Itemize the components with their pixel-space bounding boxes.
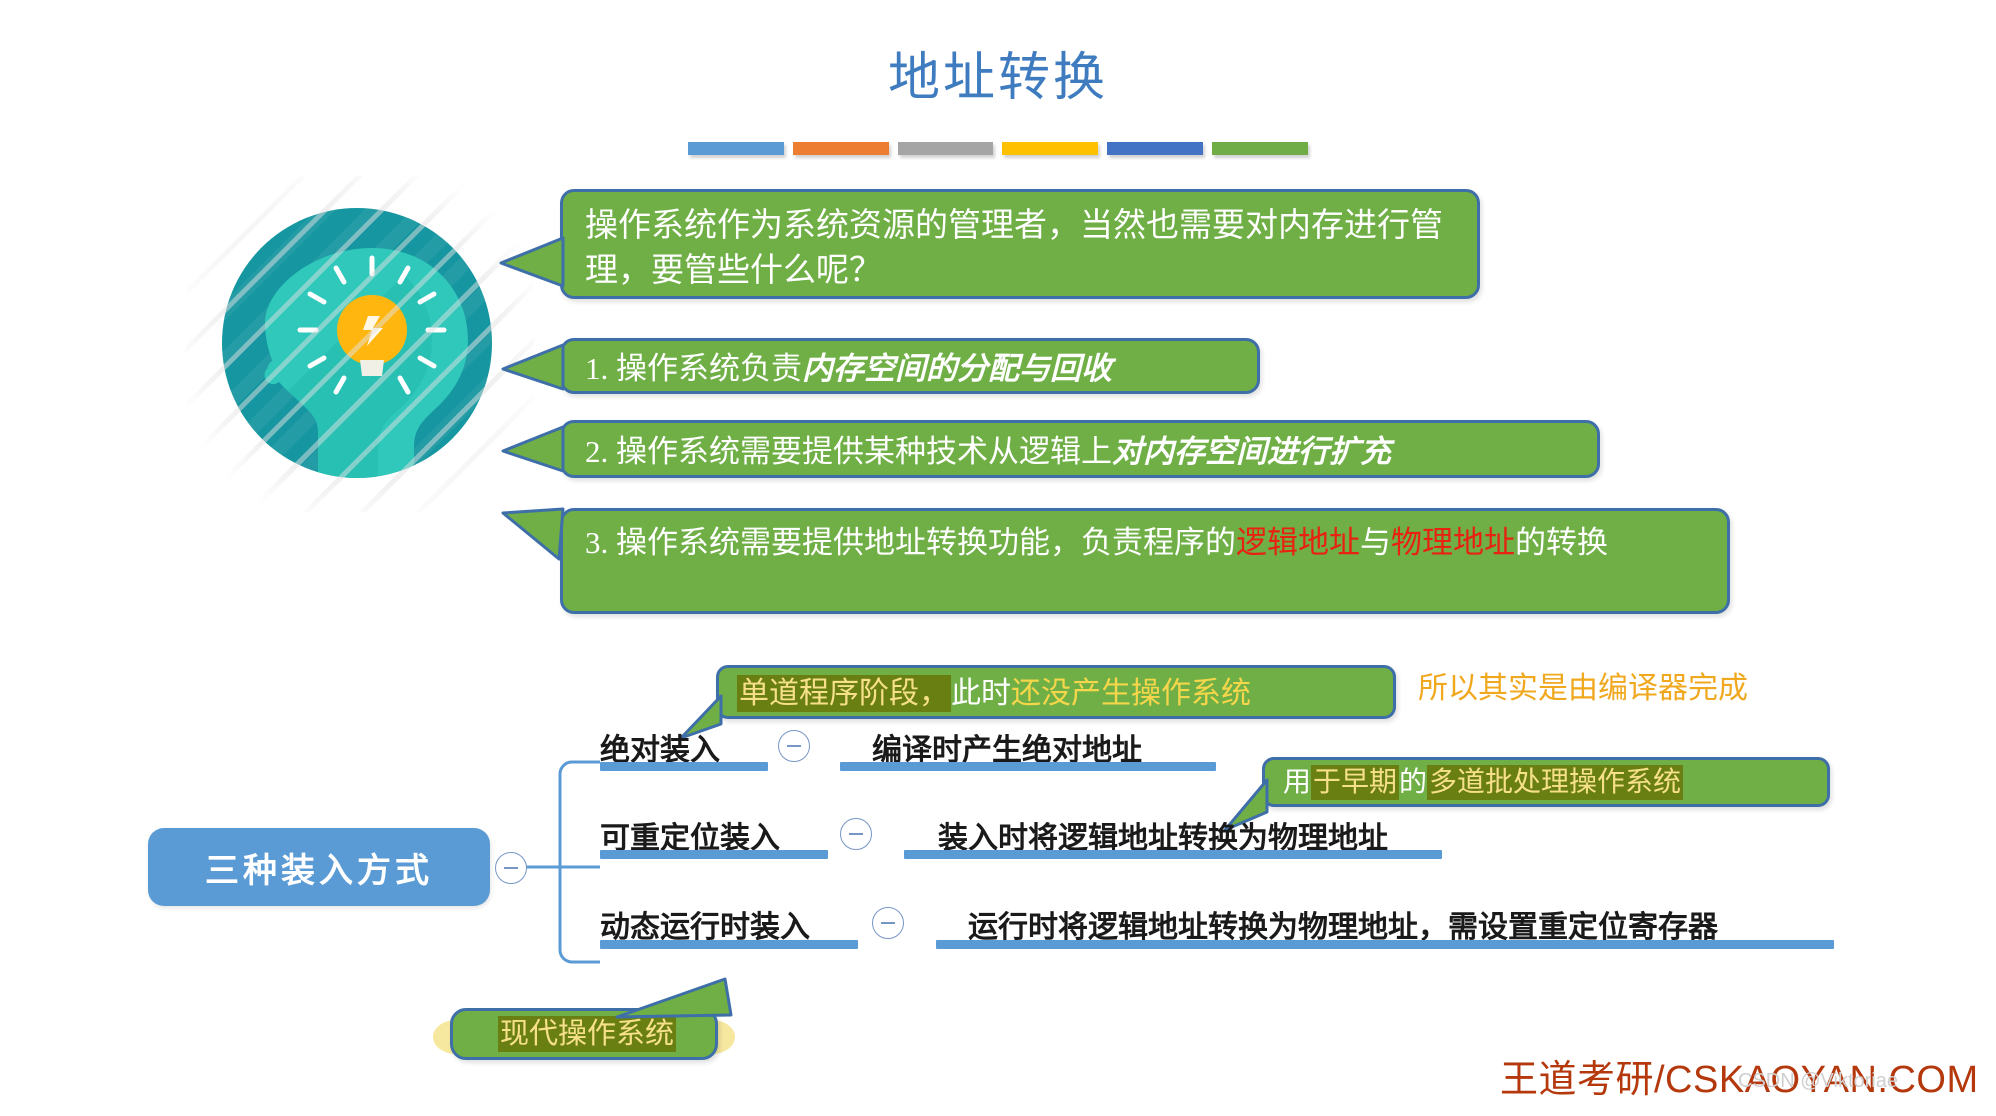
title-bar-4 xyxy=(1002,142,1098,155)
item-1-prefix: 1. 操作系统负责 xyxy=(585,351,802,386)
modern-os-pill-left xyxy=(433,1020,479,1054)
bubble-tail-icon xyxy=(501,343,565,393)
item-2-prefix: 2. 操作系统需要提供某种技术从逻辑上 xyxy=(585,434,1112,469)
mindmap-root-node[interactable]: 三种装入方式 xyxy=(148,828,490,906)
page-title: 地址转换 xyxy=(0,50,1996,107)
modern-os-text: 现代操作系统 xyxy=(498,1016,676,1052)
mindmap-row-2-desc-underline xyxy=(904,850,1442,859)
item-3-text-a: 3. 操作系统需要提供地址转换功能，负责程序的 xyxy=(585,525,1236,560)
modern-os-pill-right xyxy=(689,1020,735,1054)
bubble-tail-icon xyxy=(501,505,565,563)
minus-circle-icon[interactable] xyxy=(872,907,904,939)
title-bar-5 xyxy=(1107,142,1203,155)
item-3-physical-address-cont: 址 xyxy=(1484,525,1515,560)
speech-bubble-item-1: 1. 操作系统负责内存空间的分配与回收 xyxy=(560,338,1260,394)
mindmap-row-1-label-underline xyxy=(600,762,768,771)
speech-bubble-item-2: 2. 操作系统需要提供某种技术从逻辑上对内存空间进行扩充 xyxy=(560,420,1600,478)
item-3-physical-address: 物理地 xyxy=(1391,525,1484,560)
watermark: CSDN @Viktoriae xyxy=(1738,1070,1898,1093)
title-bar-6 xyxy=(1212,142,1308,155)
title-underline-bars xyxy=(688,142,1308,158)
brain-lightbulb-icon xyxy=(222,208,492,478)
speech-bubble-item-3: 3. 操作系统需要提供地址转换功能，负责程序的逻辑地址与物理地址的转换 xyxy=(560,508,1730,614)
speech-bubble-intro: 操作系统作为系统资源的管理者，当然也需要对内存进行管理，要管些什么呢？ xyxy=(560,189,1480,299)
item-3-logical-address: 逻辑地址 xyxy=(1236,525,1360,560)
bubble-tail-icon xyxy=(501,425,565,475)
brain-icon-art xyxy=(222,208,492,478)
item-2-emphasis: 对内存空间进行扩充 xyxy=(1112,434,1391,469)
minus-circle-icon[interactable] xyxy=(495,852,527,884)
minus-circle-icon[interactable] xyxy=(840,818,872,850)
mindmap-row-1-desc-underline xyxy=(840,762,1216,771)
title-bar-2 xyxy=(793,142,889,155)
title-bar-1 xyxy=(688,142,784,155)
item-3-conjunction: 与 xyxy=(1360,525,1391,560)
mindmap-row-2-label-underline xyxy=(600,850,828,859)
mindmap-row-3-label-underline xyxy=(600,940,858,949)
title-bar-3 xyxy=(898,142,994,155)
bubble-tail-icon xyxy=(499,236,565,290)
bubble-intro-text: 操作系统作为系统资源的管理者，当然也需要对内存进行管理，要管些什么呢？ xyxy=(585,204,1457,293)
minus-circle-icon[interactable] xyxy=(778,730,810,762)
item-1-emphasis: 内存空间的分配与回收 xyxy=(802,351,1112,386)
item-3-text-b: 的转换 xyxy=(1515,525,1608,560)
mindmap-row-3-desc-underline xyxy=(936,940,1834,949)
slide-canvas: 地址转换 xyxy=(0,0,1996,1116)
